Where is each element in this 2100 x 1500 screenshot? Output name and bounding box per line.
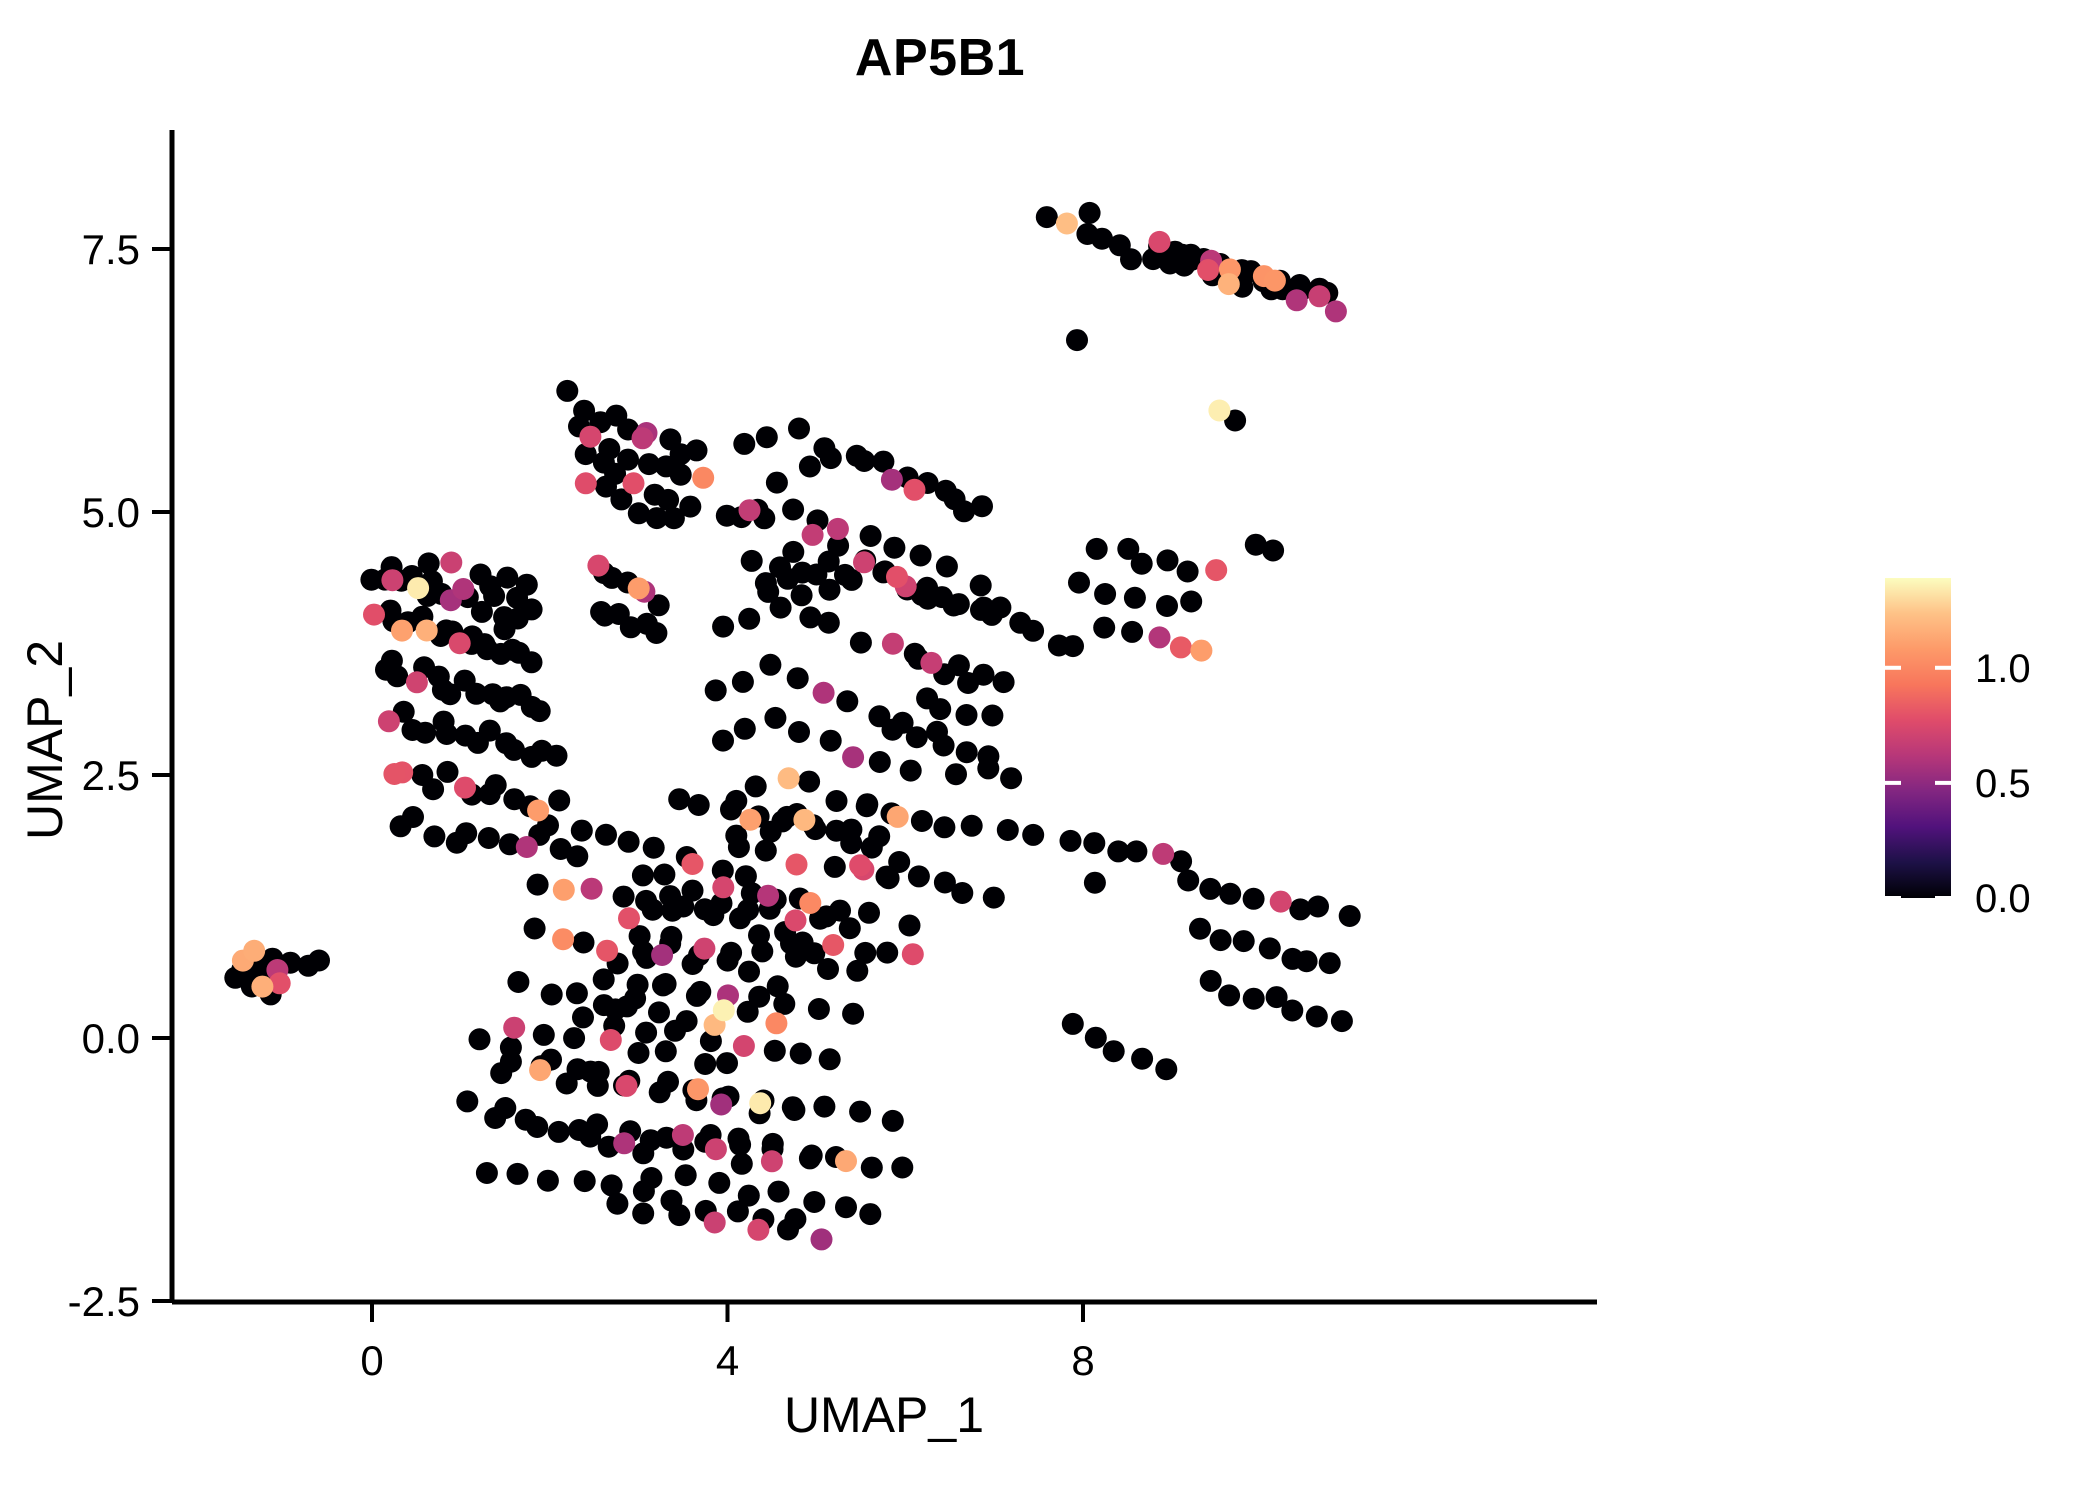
- scatter-point: [842, 746, 864, 768]
- scatter-point: [973, 664, 995, 686]
- scatter-point: [507, 971, 529, 993]
- scatter-point: [712, 730, 734, 752]
- scatter-point: [1281, 1000, 1303, 1022]
- scatter-point: [566, 845, 588, 867]
- scatter-point: [708, 1172, 730, 1194]
- scatter-point: [653, 864, 675, 886]
- scatter-point: [694, 1053, 716, 1075]
- scatter-point: [1218, 273, 1240, 295]
- scatter-point: [904, 479, 926, 501]
- scatter-point: [1000, 767, 1022, 789]
- scatter-point: [1062, 635, 1084, 657]
- scatter-point: [573, 932, 595, 954]
- scatter-point: [308, 950, 330, 972]
- scatter-point: [1093, 617, 1115, 639]
- scatter-point: [728, 1128, 750, 1150]
- scatter-point: [1270, 891, 1292, 913]
- scatter-point: [640, 1167, 662, 1189]
- scatter-point: [1233, 930, 1255, 952]
- scatter-point: [983, 887, 1005, 909]
- scatter-point: [766, 472, 788, 494]
- scatter-point: [764, 1040, 786, 1062]
- scatter-point: [632, 1142, 654, 1164]
- scatter-point: [1243, 888, 1265, 910]
- scatter-point: [813, 437, 835, 459]
- scatter-point: [494, 618, 516, 640]
- scatter-point: [628, 577, 650, 599]
- scatter-point: [529, 700, 551, 722]
- scatter-point: [785, 946, 807, 968]
- scatter-point: [910, 545, 932, 567]
- scatter-point: [785, 909, 807, 931]
- scatter-point: [757, 885, 779, 907]
- scatter-point: [869, 751, 891, 773]
- scatter-point: [1155, 1058, 1177, 1080]
- scatter-point: [1036, 206, 1058, 228]
- scatter-point: [402, 806, 424, 828]
- scatter-point: [943, 595, 965, 617]
- scatter-point: [971, 495, 993, 517]
- scatter-point: [956, 704, 978, 726]
- scatter-point: [741, 550, 763, 572]
- scatter-point: [1103, 1040, 1125, 1062]
- scatter-point: [546, 745, 568, 767]
- scatter-point: [507, 1163, 529, 1185]
- scatter-point: [731, 1153, 753, 1175]
- colorbar-labels: 1.00.50.0: [1975, 647, 2031, 921]
- scatter-point: [643, 837, 665, 859]
- scatter-point: [1066, 329, 1088, 351]
- scatter-point: [1259, 937, 1281, 959]
- scatter-point: [452, 578, 474, 600]
- scatter-point: [414, 722, 436, 744]
- scatter-point: [739, 809, 761, 831]
- scatter-point: [876, 866, 898, 888]
- scatter-point: [593, 968, 615, 990]
- scatter-point: [1339, 905, 1361, 927]
- scatter-point: [705, 1138, 727, 1160]
- scatter-point: [1079, 202, 1101, 224]
- scatter-point: [787, 667, 809, 689]
- scatter-point: [527, 874, 549, 896]
- scatter-point: [1307, 896, 1329, 918]
- scatter-point: [820, 730, 842, 752]
- scatter-point: [777, 1219, 799, 1241]
- scatter-point: [748, 986, 770, 1008]
- scatter-point: [243, 940, 265, 962]
- scatter-point: [720, 942, 742, 964]
- scatter-point: [1262, 540, 1284, 562]
- scatter-point: [764, 707, 786, 729]
- scatter-point: [521, 598, 543, 620]
- scatter-point: [1325, 300, 1347, 322]
- scatter-point: [732, 671, 754, 693]
- scatter-point: [849, 1101, 871, 1123]
- scatter-point: [1180, 591, 1202, 613]
- scatter-point: [850, 632, 872, 654]
- x-tick-label: 8: [1071, 1337, 1094, 1384]
- scatter-point: [786, 854, 808, 876]
- scatter-point: [859, 1203, 881, 1225]
- scatter-point: [1157, 549, 1179, 571]
- scatter-point: [887, 806, 909, 828]
- scatter-point: [682, 880, 704, 902]
- scatter-point: [751, 940, 773, 962]
- scatter-point: [381, 569, 403, 591]
- scatter-point: [524, 918, 546, 940]
- scatter-point: [449, 632, 471, 654]
- colorbar-label: 0.5: [1975, 762, 2031, 806]
- scatter-point: [661, 900, 683, 922]
- scatter-point: [1308, 285, 1330, 307]
- scatter-point: [902, 943, 924, 965]
- scatter-point: [936, 556, 958, 578]
- scatter-point: [1264, 270, 1286, 292]
- scatter-point: [632, 427, 654, 449]
- scatter-point: [596, 940, 618, 962]
- scatter-point: [733, 1035, 755, 1057]
- scatter-point: [1189, 918, 1211, 940]
- x-tick-label: 4: [716, 1337, 739, 1384]
- scatter-point: [587, 555, 609, 577]
- scatter-point: [1200, 970, 1222, 992]
- scatter-point: [790, 1043, 812, 1065]
- scatter-point: [251, 976, 273, 998]
- scatter-point: [503, 1017, 525, 1039]
- scatter-point: [537, 1170, 559, 1192]
- scatter-point: [694, 898, 716, 920]
- scatter-point: [793, 809, 815, 831]
- scatter-point: [929, 698, 951, 720]
- scatter-point: [1094, 583, 1116, 605]
- scatter-point: [1306, 1006, 1328, 1028]
- scatter-point: [770, 597, 792, 619]
- scatter-point: [632, 864, 654, 886]
- scatter-point: [581, 878, 603, 900]
- scatter-point: [891, 1157, 913, 1179]
- scatter-point: [749, 1092, 771, 1114]
- scatter-point: [886, 566, 908, 588]
- scatter-point: [827, 518, 849, 540]
- scatter-point: [618, 907, 640, 929]
- x-axis-ticks: 048: [360, 1302, 1094, 1384]
- scatter-point: [802, 524, 824, 546]
- scatter-point: [956, 741, 978, 763]
- scatter-point: [422, 778, 444, 800]
- scatter-point: [593, 994, 615, 1016]
- scatter-point: [733, 433, 755, 455]
- colorbar-label: 1.0: [1975, 647, 2031, 691]
- scatter-point: [668, 788, 690, 810]
- scatter-point: [529, 1059, 551, 1081]
- scatter-point: [613, 1132, 635, 1154]
- scatter-point: [788, 721, 810, 743]
- scatter-point: [738, 961, 760, 983]
- scatter-point: [720, 799, 742, 821]
- y-tick-label: -2.5: [68, 1278, 140, 1325]
- scatter-point: [759, 654, 781, 676]
- scatter-point: [826, 790, 848, 812]
- scatter-point: [616, 1075, 638, 1097]
- scatter-point: [383, 763, 405, 785]
- scatter-point: [623, 472, 645, 494]
- colorbar-gradient: [1885, 578, 1951, 898]
- scatter-point: [933, 735, 955, 757]
- scatter-point: [1331, 1010, 1353, 1032]
- scatter-point: [595, 824, 617, 846]
- scatter-point: [1319, 952, 1341, 974]
- scatter-point: [606, 1193, 628, 1215]
- scatter-point: [627, 974, 649, 996]
- scatter-point: [835, 1150, 857, 1172]
- scatter-point: [911, 810, 933, 832]
- y-axis-ticks: -2.50.02.55.07.5: [68, 226, 172, 1325]
- scatter-point: [655, 973, 677, 995]
- scatter-point: [476, 1162, 498, 1184]
- scatter-point: [675, 1164, 697, 1186]
- scatter-point: [1149, 626, 1171, 648]
- scatter-point: [861, 1157, 883, 1179]
- scatter-point: [1125, 840, 1147, 862]
- scatter-point: [906, 726, 928, 748]
- scatter-point: [568, 1119, 590, 1141]
- scatter-point: [1243, 988, 1265, 1010]
- scatter-point: [552, 928, 574, 950]
- scatter-point: [882, 719, 904, 741]
- scatter-point: [1199, 878, 1221, 900]
- scatter-point: [704, 1212, 726, 1234]
- scatter-point: [803, 1191, 825, 1213]
- x-axis-title: UMAP_1: [784, 1387, 984, 1443]
- scatter-point: [981, 705, 1003, 727]
- scatter-point: [1124, 587, 1146, 609]
- scatter-point: [1022, 620, 1044, 642]
- scatter-point: [1177, 561, 1199, 583]
- scatter-point: [858, 902, 880, 924]
- scatter-point: [1208, 400, 1230, 422]
- scatter-point: [808, 998, 830, 1020]
- scatter-point: [574, 1170, 596, 1192]
- scatter-point: [672, 1124, 694, 1146]
- scatter-point: [1156, 595, 1178, 617]
- scatter-point: [712, 616, 734, 638]
- scatter-point: [818, 612, 840, 634]
- y-tick-label: 0.0: [82, 1015, 140, 1062]
- scatter-point: [572, 1006, 594, 1028]
- scatter-point: [1218, 984, 1240, 1006]
- scatter-point: [416, 620, 438, 642]
- scatter-point: [977, 757, 999, 779]
- scatter-point: [747, 1219, 769, 1241]
- scatter-point: [645, 622, 667, 644]
- scatter-point: [407, 577, 429, 599]
- scatter-point: [494, 1097, 516, 1119]
- scatter-point: [738, 1185, 760, 1207]
- scatter-point: [712, 876, 734, 898]
- scatter-point: [846, 960, 868, 982]
- scatter-point: [1085, 1027, 1107, 1049]
- scatter-point: [920, 652, 942, 674]
- scatter-point: [899, 915, 921, 937]
- colorbar-label: 0.0: [1975, 877, 2031, 921]
- scatter-point: [882, 1110, 904, 1132]
- scatter-point: [1068, 572, 1090, 594]
- scatter-point: [1121, 621, 1143, 643]
- scatter-point: [788, 418, 810, 440]
- scatter-point: [849, 854, 871, 876]
- scatter-point: [496, 567, 518, 589]
- scatter-point: [840, 819, 862, 841]
- scatter-point: [628, 1042, 650, 1064]
- scatter-point: [951, 882, 973, 904]
- scatter-point: [944, 488, 966, 510]
- scatter-point: [981, 604, 1003, 626]
- scatter-point: [527, 800, 549, 822]
- scatter-point: [437, 761, 459, 783]
- scatter-point: [541, 984, 563, 1006]
- scatter-points-layer: [224, 202, 1360, 1251]
- scatter-point: [1149, 231, 1171, 253]
- scatter-point: [553, 879, 575, 901]
- scatter-point: [406, 671, 428, 693]
- scatter-point: [670, 464, 692, 486]
- scatter-point: [970, 575, 992, 597]
- scatter-point: [579, 426, 601, 448]
- scatter-point: [829, 900, 851, 922]
- scatter-point: [716, 1052, 738, 1074]
- scatter-point: [1173, 255, 1195, 277]
- scatter-point: [822, 934, 844, 956]
- scatter-point: [1060, 830, 1082, 852]
- scatter-point: [791, 584, 813, 606]
- scatter-point: [1086, 538, 1108, 560]
- scatter-point: [883, 537, 905, 559]
- scatter-point: [500, 1037, 522, 1059]
- scatter-point: [526, 1116, 548, 1138]
- y-axis-title: UMAP_2: [17, 640, 73, 840]
- scatter-point: [705, 679, 727, 701]
- scatter-point: [682, 853, 704, 875]
- scatter-point: [454, 777, 476, 799]
- umap-feature-plot: AP5B1 -2.50.02.55.07.5 048 UMAP_2 UMAP_1: [0, 0, 2100, 1500]
- scatter-point: [478, 827, 500, 849]
- scatter-point: [648, 1001, 670, 1023]
- scatter-point: [663, 507, 685, 529]
- scatter-point: [1286, 289, 1308, 311]
- scatter-point: [391, 620, 413, 642]
- scatter-point: [1120, 248, 1142, 270]
- scatter-point: [773, 993, 795, 1015]
- scatter-point: [853, 551, 875, 573]
- scatter-point: [693, 938, 715, 960]
- scatter-point: [363, 604, 385, 626]
- scatter-point: [616, 995, 638, 1017]
- scatter-point: [575, 472, 597, 494]
- scatter-point: [378, 710, 400, 732]
- scatter-point: [799, 456, 821, 478]
- scatter-point: [868, 825, 890, 847]
- scatter-point: [1062, 1013, 1084, 1035]
- scatter-point: [755, 840, 777, 862]
- scatter-point: [469, 1028, 491, 1050]
- scatter-point: [739, 499, 761, 521]
- scatter-point: [1190, 640, 1212, 662]
- scatter-point: [632, 1202, 654, 1224]
- scatter-point: [692, 467, 714, 489]
- scatter-point: [738, 608, 760, 630]
- scatter-point: [945, 763, 967, 785]
- scatter-point: [1022, 824, 1044, 846]
- scatter-point: [423, 825, 445, 847]
- scatter-point: [713, 999, 735, 1021]
- scatter-point: [548, 1121, 570, 1143]
- scatter-point: [485, 774, 507, 796]
- scatter-point: [651, 944, 673, 966]
- scatter-point: [571, 820, 593, 842]
- scatter-point: [1056, 213, 1078, 235]
- scatter-point: [811, 1228, 833, 1250]
- scatter-point: [782, 499, 804, 521]
- y-tick-label: 2.5: [82, 752, 140, 799]
- scatter-point: [563, 1027, 585, 1049]
- scatter-point: [908, 865, 930, 887]
- scatter-point: [1131, 1048, 1153, 1070]
- scatter-point: [618, 831, 640, 853]
- scatter-point: [1177, 870, 1199, 892]
- scatter-point: [761, 1150, 783, 1172]
- scatter-point: [1084, 872, 1106, 894]
- scatter-point: [961, 815, 983, 837]
- scatter-point: [635, 1022, 657, 1044]
- scatter-point: [846, 445, 868, 467]
- scatter-point: [836, 690, 858, 712]
- scatter-point: [440, 552, 462, 574]
- scatter-point: [664, 1020, 686, 1042]
- scatter-point: [933, 816, 955, 838]
- scatter-point: [436, 723, 458, 745]
- scatter-point: [687, 1078, 709, 1100]
- scatter-point: [813, 1096, 835, 1118]
- scatter-point: [689, 981, 711, 1003]
- scatter-point: [533, 1024, 555, 1046]
- scatter-point: [799, 1147, 821, 1169]
- scatter-point: [1296, 950, 1318, 972]
- scatter-point: [819, 1048, 841, 1070]
- scatter-point: [566, 982, 588, 1004]
- scatter-point: [881, 469, 903, 491]
- scatter-point: [455, 822, 477, 844]
- scatter-point: [686, 439, 708, 461]
- scatter-point: [613, 886, 635, 908]
- scatter-point: [745, 775, 767, 797]
- scatter-point: [1197, 259, 1219, 281]
- scatter-point: [635, 890, 657, 912]
- scatter-point: [798, 771, 820, 793]
- scatter-point: [657, 1071, 679, 1093]
- x-tick-label: 0: [360, 1337, 383, 1384]
- scatter-point: [860, 525, 882, 547]
- scatter-point: [456, 1090, 478, 1112]
- scatter-point: [655, 1040, 677, 1062]
- scatter-point: [516, 574, 538, 596]
- scatter-point: [768, 1181, 790, 1203]
- scatter-point: [948, 654, 970, 676]
- scatter-point: [688, 794, 710, 816]
- y-tick-label: 5.0: [82, 489, 140, 536]
- scatter-point: [556, 380, 578, 402]
- scatter-point: [1205, 559, 1227, 581]
- scatter-point: [1083, 832, 1105, 854]
